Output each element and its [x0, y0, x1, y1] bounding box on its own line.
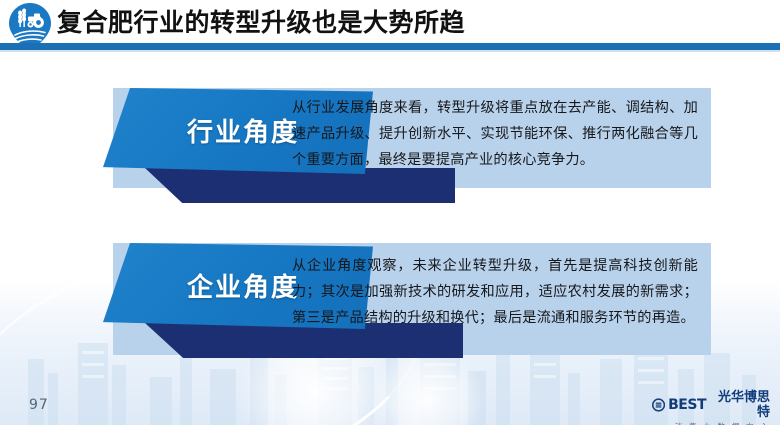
- content-block-enterprise: 企业角度 从企业角度观察，未来企业转型升级，首先是提高科技创新能力；其次是加强新…: [0, 243, 780, 358]
- page-number: 97: [29, 397, 49, 413]
- slide-canvas: 复合肥行业的转型升级也是大势所趋 行业角度 从行业发展角度来看，转型升级将重点放…: [0, 0, 780, 425]
- body-text-enterprise: 从企业角度观察，未来企业转型升级，首先是提高科技创新能力；其次是加强新技术的研发…: [292, 253, 698, 331]
- banner-label: 行业角度: [187, 112, 299, 149]
- content-block-industry: 行业角度 从行业发展角度来看，转型升级将重点放在去产能、调结构、加速产品升级、提…: [0, 88, 780, 203]
- banner-label: 企业角度: [187, 267, 299, 304]
- body-text-industry: 从行业发展角度来看，转型升级将重点放在去产能、调结构、加速产品升级、提升创新水平…: [292, 95, 698, 173]
- page-title: 复合肥行业的转型升级也是大势所趋: [57, 7, 465, 39]
- title-divider-thin: [0, 50, 780, 52]
- brand-name-cn: 光华博思特: [709, 390, 770, 420]
- title-divider-bar: [0, 43, 780, 50]
- slide-header: 复合肥行业的转型升级也是大势所趋: [0, 0, 780, 52]
- brand-logo: BEST 光华博思特 消 费 大 数 据 中 心: [652, 390, 770, 420]
- brand-name-en: BEST: [668, 398, 706, 413]
- brand-tagline: 消 费 大 数 据 中 心: [652, 421, 770, 425]
- best-circle-icon: [652, 398, 665, 412]
- banner-shadow: [145, 168, 455, 203]
